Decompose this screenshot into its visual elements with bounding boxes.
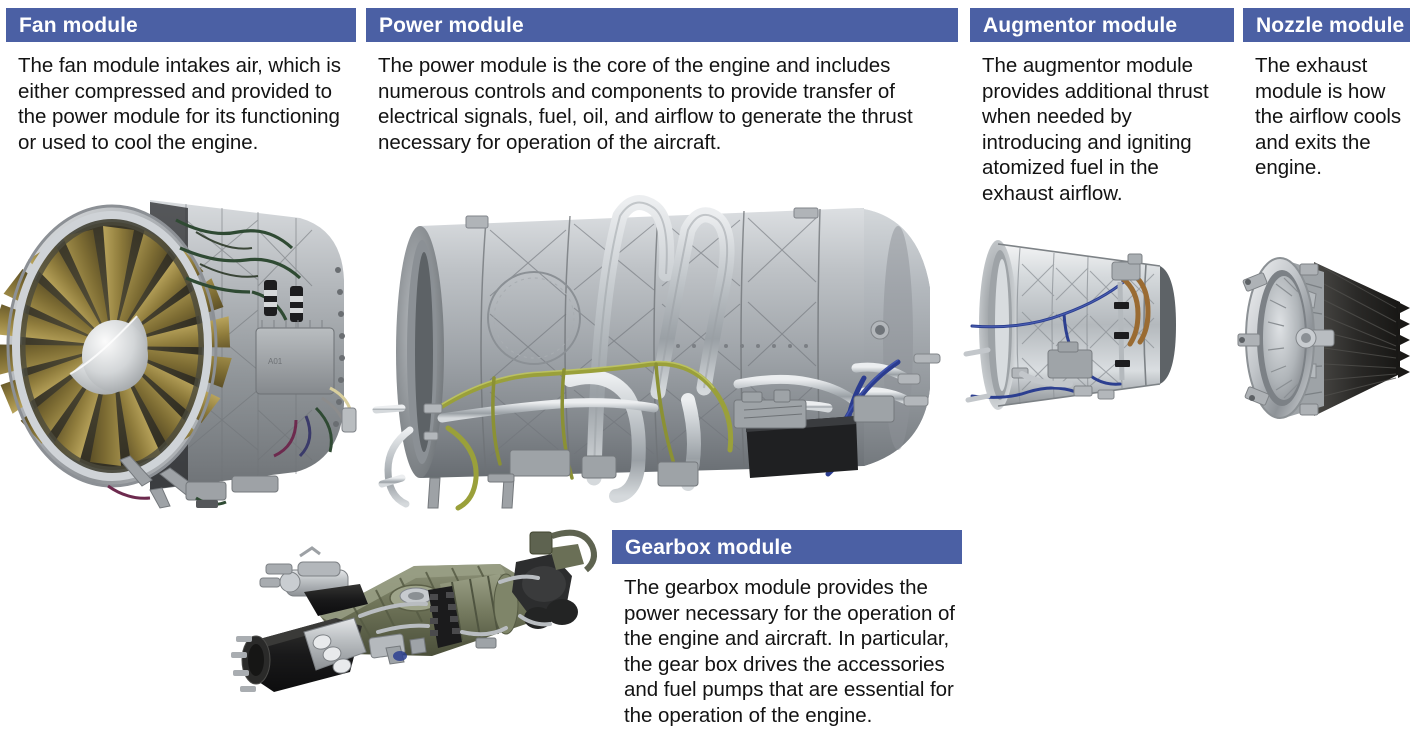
svg-text:A01: A01 xyxy=(268,357,283,366)
module-panel-augmentor: Augmentor module The augmentor module pr… xyxy=(970,8,1234,207)
module-title-power: Power module xyxy=(379,15,524,36)
module-description-gearbox: The gearbox module provides the power ne… xyxy=(612,564,962,729)
nozzle-module-photo xyxy=(1228,238,1416,440)
module-header-gearbox: Gearbox module xyxy=(612,530,962,564)
module-title-augmentor: Augmentor module xyxy=(983,15,1177,36)
module-header-nozzle: Nozzle module xyxy=(1243,8,1410,42)
module-header-fan: Fan module xyxy=(6,8,356,42)
module-panel-gearbox: Gearbox module The gearbox module provid… xyxy=(612,530,962,729)
module-description-nozzle: The exhaust module is how the airflow co… xyxy=(1243,42,1410,181)
gearbox-module-photo xyxy=(200,520,620,720)
power-module-photo xyxy=(358,178,964,514)
fan-module-photo: A01 xyxy=(0,160,366,510)
module-title-nozzle: Nozzle module xyxy=(1256,15,1404,36)
module-header-power: Power module xyxy=(366,8,958,42)
module-panel-fan: Fan module The fan module intakes air, w… xyxy=(6,8,356,155)
module-panel-nozzle: Nozzle module The exhaust module is how … xyxy=(1243,8,1410,181)
augmentor-module-photo xyxy=(962,208,1212,440)
module-description-power: The power module is the core of the engi… xyxy=(366,42,958,155)
module-description-augmentor: The augmentor module provides additional… xyxy=(970,42,1234,207)
module-panel-power: Power module The power module is the cor… xyxy=(366,8,958,155)
module-title-gearbox: Gearbox module xyxy=(625,537,792,558)
module-description-fan: The fan module intakes air, which is eit… xyxy=(6,42,356,155)
module-title-fan: Fan module xyxy=(19,15,138,36)
module-header-augmentor: Augmentor module xyxy=(970,8,1234,42)
